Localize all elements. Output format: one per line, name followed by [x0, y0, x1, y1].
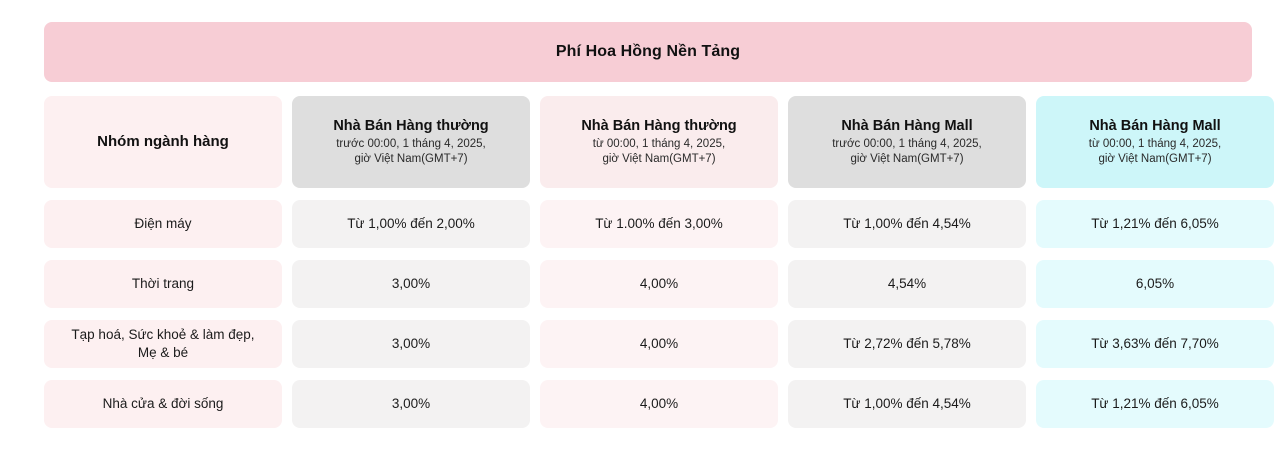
- column-header-mall-before: Nhà Bán Hàng Mall trước 00:00, 1 tháng 4…: [788, 96, 1026, 188]
- table-cell-normal-before: 3,00%: [292, 320, 530, 368]
- row-0-normal-before: Từ 1,00% đến 2,00%: [347, 215, 475, 232]
- column-header-mall-before-title: Nhà Bán Hàng Mall: [841, 117, 972, 135]
- table-cell-mall-from: Từ 1,21% đến 6,05%: [1036, 380, 1274, 428]
- column-header-normal-before: Nhà Bán Hàng thường trước 00:00, 1 tháng…: [292, 96, 530, 188]
- row-0-mall-before: Từ 1,00% đến 4,54%: [843, 215, 971, 232]
- table-cell-normal-from: 4,00%: [540, 260, 778, 308]
- column-header-normal-from-title: Nhà Bán Hàng thường: [581, 117, 736, 135]
- row-2-mall-from: Từ 3,63% đến 7,70%: [1091, 335, 1219, 352]
- page-title: Phí Hoa Hồng Nền Tảng: [556, 43, 740, 61]
- table-cell-mall-before: 4,54%: [788, 260, 1026, 308]
- row-2-normal-from: 4,00%: [640, 335, 678, 352]
- row-2-category-line1: Tạp hoá, Sức khoẻ & làm đẹp,: [71, 326, 254, 344]
- page-title-banner: Phí Hoa Hồng Nền Tảng: [44, 22, 1252, 82]
- column-header-normal-from-subtitle-line2: giờ Việt Nam(GMT+7): [602, 153, 715, 165]
- column-header-category: Nhóm ngành hàng: [44, 96, 282, 188]
- row-1-normal-before: 3,00%: [392, 275, 430, 292]
- column-header-category-title: Nhóm ngành hàng: [97, 133, 229, 152]
- column-header-mall-from-subtitle-line1: từ 00:00, 1 tháng 4, 2025,: [1089, 138, 1221, 150]
- table-row-category: Tạp hoá, Sức khoẻ & làm đẹp, Mẹ & bé: [44, 320, 282, 368]
- column-header-mall-from-subtitle-line2: giờ Việt Nam(GMT+7): [1098, 153, 1211, 165]
- table-cell-mall-from: Từ 1,21% đến 6,05%: [1036, 200, 1274, 248]
- column-header-normal-before-title: Nhà Bán Hàng thường: [333, 117, 488, 135]
- column-header-mall-from-title: Nhà Bán Hàng Mall: [1089, 117, 1220, 135]
- row-1-category: Thời trang: [132, 275, 194, 292]
- column-header-mall-from: Nhà Bán Hàng Mall từ 00:00, 1 tháng 4, 2…: [1036, 96, 1274, 188]
- table-cell-normal-from: 4,00%: [540, 380, 778, 428]
- row-1-mall-before: 4,54%: [888, 275, 926, 292]
- row-3-mall-from: Từ 1,21% đến 6,05%: [1091, 395, 1219, 412]
- row-3-normal-from: 4,00%: [640, 395, 678, 412]
- commission-fee-sheet: Phí Hoa Hồng Nền Tảng Nhóm ngành hàng Nh…: [0, 0, 1280, 454]
- row-3-category: Nhà cửa & đời sống: [103, 395, 224, 412]
- column-header-normal-from-subtitle-line1: từ 00:00, 1 tháng 4, 2025,: [593, 138, 725, 150]
- table-cell-mall-before: Từ 1,00% đến 4,54%: [788, 380, 1026, 428]
- column-header-normal-before-subtitle-line2: giờ Việt Nam(GMT+7): [354, 153, 467, 165]
- row-0-category: Điện máy: [134, 215, 191, 232]
- row-0-mall-from: Từ 1,21% đến 6,05%: [1091, 215, 1219, 232]
- row-2-normal-before: 3,00%: [392, 335, 430, 352]
- table-cell-normal-before: 3,00%: [292, 380, 530, 428]
- row-1-mall-from: 6,05%: [1136, 275, 1174, 292]
- table-cell-normal-before: Từ 1,00% đến 2,00%: [292, 200, 530, 248]
- table-cell-mall-from: 6,05%: [1036, 260, 1274, 308]
- column-header-normal-before-subtitle-line1: trước 00:00, 1 tháng 4, 2025,: [336, 138, 486, 150]
- column-header-mall-before-subtitle-line2: giờ Việt Nam(GMT+7): [850, 153, 963, 165]
- table-cell-mall-before: Từ 2,72% đến 5,78%: [788, 320, 1026, 368]
- row-2-mall-before: Từ 2,72% đến 5,78%: [843, 335, 971, 352]
- table-cell-mall-from: Từ 3,63% đến 7,70%: [1036, 320, 1274, 368]
- row-3-normal-before: 3,00%: [392, 395, 430, 412]
- table-row-category: Nhà cửa & đời sống: [44, 380, 282, 428]
- column-header-normal-before-subtitle: trước 00:00, 1 tháng 4, 2025, giờ Việt N…: [336, 137, 486, 167]
- commission-fee-table: Nhóm ngành hàng Nhà Bán Hàng thường trướ…: [44, 96, 1252, 428]
- table-cell-normal-from: Từ 1.00% đến 3,00%: [540, 200, 778, 248]
- row-0-normal-from: Từ 1.00% đến 3,00%: [595, 215, 723, 232]
- column-header-mall-before-subtitle-line1: trước 00:00, 1 tháng 4, 2025,: [832, 138, 982, 150]
- table-row-category: Điện máy: [44, 200, 282, 248]
- table-cell-normal-from: 4,00%: [540, 320, 778, 368]
- table-row-category: Thời trang: [44, 260, 282, 308]
- column-header-mall-from-subtitle: từ 00:00, 1 tháng 4, 2025, giờ Việt Nam(…: [1089, 137, 1221, 167]
- column-header-normal-from: Nhà Bán Hàng thường từ 00:00, 1 tháng 4,…: [540, 96, 778, 188]
- row-1-normal-from: 4,00%: [640, 275, 678, 292]
- table-cell-mall-before: Từ 1,00% đến 4,54%: [788, 200, 1026, 248]
- table-cell-normal-before: 3,00%: [292, 260, 530, 308]
- row-2-category-line2: Mẹ & bé: [138, 344, 188, 362]
- column-header-mall-before-subtitle: trước 00:00, 1 tháng 4, 2025, giờ Việt N…: [832, 137, 982, 167]
- row-3-mall-before: Từ 1,00% đến 4,54%: [843, 395, 971, 412]
- column-header-normal-from-subtitle: từ 00:00, 1 tháng 4, 2025, giờ Việt Nam(…: [593, 137, 725, 167]
